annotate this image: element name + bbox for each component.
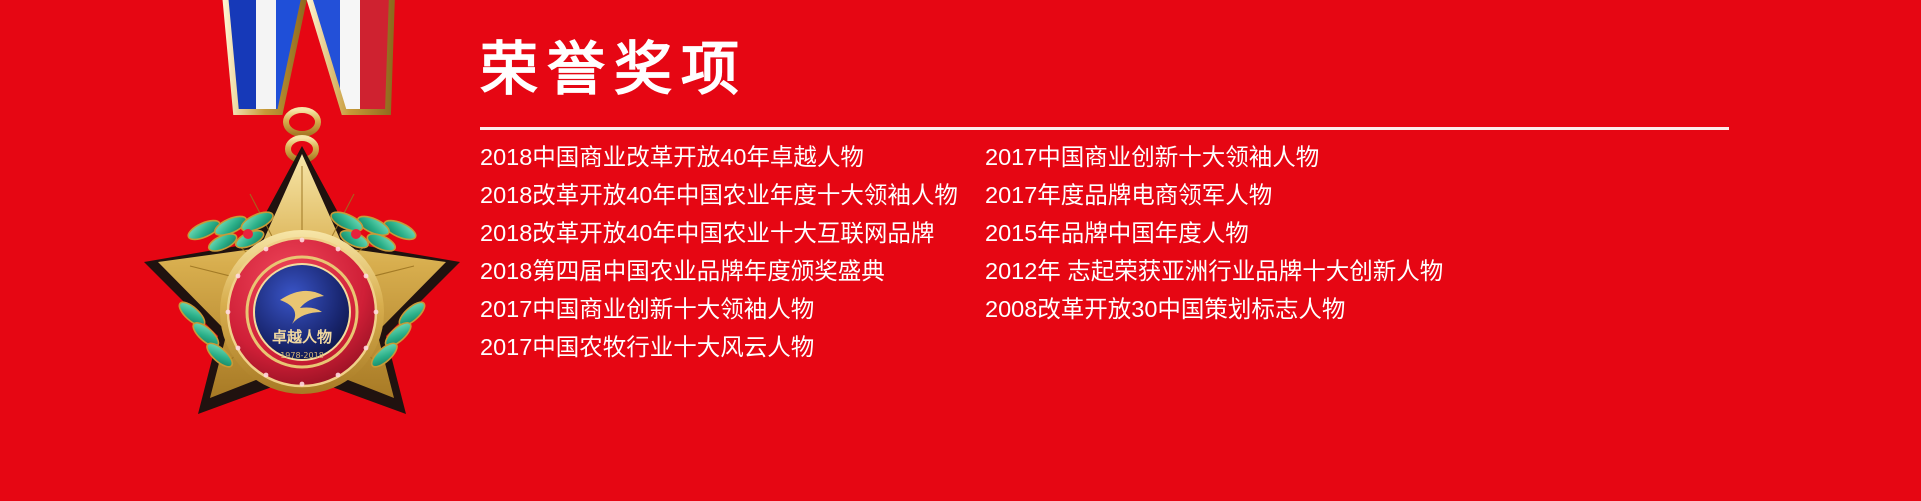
medal-ruby-left (243, 229, 253, 239)
medal-ruby-right (351, 229, 361, 239)
awards-column-right: 2017中国商业创新十大领袖人物 2017年度品牌电商领军人物 2015年品牌中… (985, 139, 1735, 367)
award-item: 2018中国商业改革开放40年卓越人物 (480, 139, 985, 177)
award-item: 2017中国商业创新十大领袖人物 (480, 291, 985, 329)
award-item: 2017年度品牌电商领军人物 (985, 177, 1735, 215)
awards-lists: 2018中国商业改革开放40年卓越人物 2018改革开放40年中国农业年度十大领… (480, 139, 1736, 367)
honor-awards-banner: 卓越人物 1978-2018 荣誉奖项 2018中国商业改革开放40年卓越人物 … (0, 0, 1921, 501)
title-divider (480, 127, 1729, 130)
awards-content: 荣誉奖项 2018中国商业改革开放40年卓越人物 2018改革开放40年中国农业… (478, 0, 1738, 501)
award-item: 2018改革开放40年中国农业十大互联网品牌 (480, 215, 985, 253)
medal-center-text: 卓越人物 (272, 328, 332, 346)
award-item: 2018第四届中国农业品牌年度颁奖盛典 (480, 253, 985, 291)
award-item: 2018改革开放40年中国农业年度十大领袖人物 (480, 177, 985, 215)
page-title: 荣誉奖项 (480, 40, 748, 101)
honor-medal-icon: 卓越人物 1978-2018 (130, 0, 460, 414)
award-item: 2015年品牌中国年度人物 (985, 215, 1735, 253)
medal-year-text: 1978-2018 (280, 351, 324, 360)
awards-column-left: 2018中国商业改革开放40年卓越人物 2018改革开放40年中国农业年度十大领… (480, 139, 985, 367)
award-item: 2017中国商业创新十大领袖人物 (985, 139, 1735, 177)
award-item: 2017中国农牧行业十大风云人物 (480, 329, 985, 367)
award-item: 2012年 志起荣获亚洲行业品牌十大创新人物 (985, 253, 1735, 291)
medal-ribbon (218, 0, 406, 119)
medal-center-emblem: 卓越人物 1978-2018 (220, 230, 384, 394)
award-item: 2008改革开放30中国策划标志人物 (985, 291, 1735, 329)
